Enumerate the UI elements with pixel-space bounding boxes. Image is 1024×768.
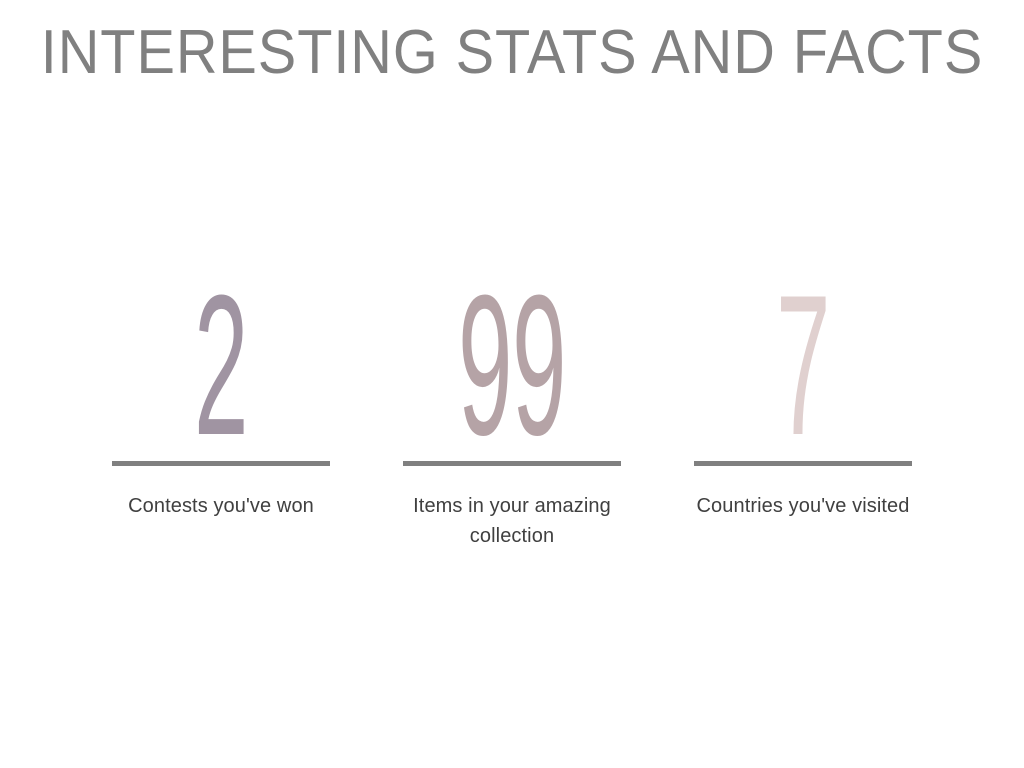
stat-value-collection-items: 99 xyxy=(458,278,566,449)
slide-canvas: INTERESTING STATS AND FACTS 2 Contests y… xyxy=(0,0,1024,768)
stat-block-contests-won: 2 Contests you've won xyxy=(112,278,330,521)
stat-value-contests-won: 2 xyxy=(194,278,248,449)
stat-caption-countries-visited: Countries you've visited xyxy=(688,491,918,521)
stat-value-countries-visited: 7 xyxy=(776,278,830,449)
stat-block-countries-visited: 7 Countries you've visited xyxy=(694,278,912,521)
stat-block-collection-items: 99 Items in your amazing collection xyxy=(403,278,621,552)
stat-caption-contests-won: Contests you've won xyxy=(106,491,336,521)
stat-caption-collection-items: Items in your amazing collection xyxy=(397,491,627,552)
page-title: INTERESTING STATS AND FACTS xyxy=(36,22,988,84)
stats-row: 2 Contests you've won 99 Items in your a… xyxy=(112,278,912,552)
